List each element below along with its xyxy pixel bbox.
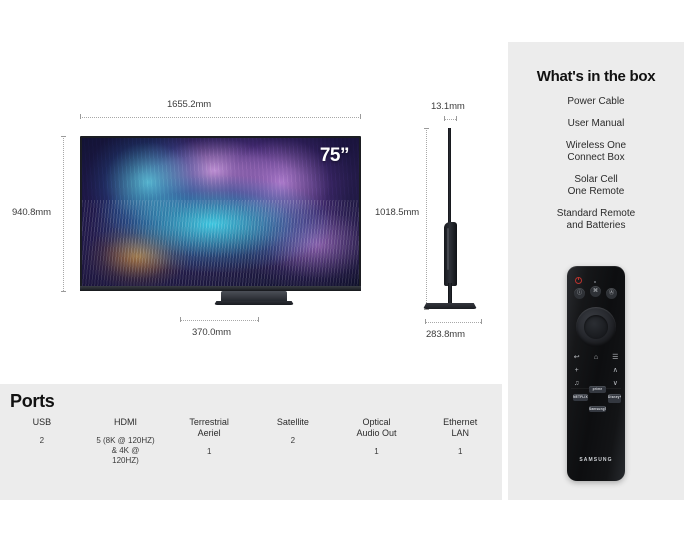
dimensions-panel: 1655.2mm 940.8mm 75” 370.0mm 13.1mm <box>0 0 508 378</box>
netflix-app-button: NETFLIX <box>573 394 588 401</box>
dimension-stand-depth-line <box>425 322 481 323</box>
home-icon: ⌂ <box>590 353 602 362</box>
dimension-cap <box>360 114 361 119</box>
ports-section-title: Ports <box>10 391 55 412</box>
port-name: HDMI <box>84 417 168 428</box>
channel-down-icon: ∨ <box>609 379 621 388</box>
dimension-side-depth-line <box>444 119 456 120</box>
port-name: Terrestrial Aeriel <box>167 417 251 439</box>
whats-in-the-box-list: Power Cable User Manual Wireless One Con… <box>508 96 684 242</box>
dimension-cap <box>61 136 66 137</box>
remote-nav-row: ↩ ⌂ ☰ <box>567 353 625 362</box>
dimension-stand-depth-label: 283.8mm <box>426 329 465 340</box>
box-item: User Manual <box>508 118 684 130</box>
box-item: Wireless One Connect Box <box>508 140 684 164</box>
dimension-cap <box>456 116 457 121</box>
whats-in-the-box-title: What's in the box <box>508 68 684 85</box>
tv-side-bulge-detail <box>447 228 449 270</box>
assistant-icon: ⓘ <box>574 288 585 299</box>
volume-up-icon: + <box>571 366 583 375</box>
dimension-front-height-line <box>63 136 64 291</box>
tv-side-bulge <box>444 222 457 286</box>
tv-screen-artwork: 75” <box>82 138 359 286</box>
ports-table: USB 2 HDMI 5 (8K @ 120HZ) & 4K @ 120HZ) … <box>0 417 502 466</box>
box-item: Solar Cell One Remote <box>508 174 684 198</box>
box-item: Standard Remote and Batteries <box>508 208 684 232</box>
dimension-front-width-label: 1655.2mm <box>167 99 211 110</box>
tv-side-stand-post <box>448 283 452 305</box>
dimension-stand-width-line <box>180 320 258 321</box>
source-icon: ⌘ <box>590 286 601 297</box>
remote-control-image: ⓘ ⌘ Ⓐ ↩ ⌂ ☰ + ∧ ♫ ∨ NETFLIX <box>567 266 625 481</box>
dimension-front-height-label: 940.8mm <box>12 207 51 218</box>
port-column-ethernet-lan: Ethernet LAN 1 <box>418 417 502 466</box>
prime-video-app-button: prime video <box>589 386 606 393</box>
dimension-cap <box>425 319 426 324</box>
source-button: ⌘ <box>590 286 601 297</box>
dimension-cap <box>258 317 259 322</box>
dimension-stand-width-label: 370.0mm <box>192 327 231 338</box>
dimension-cap <box>180 317 181 322</box>
tv-front-view-image: 75” <box>80 136 361 291</box>
tv-bottom-chin <box>80 286 361 291</box>
mute-icon: ♫ <box>571 379 583 388</box>
tv-stand-base <box>214 301 294 305</box>
dimension-side-depth-label: 13.1mm <box>431 101 465 112</box>
port-name: Satellite <box>251 417 335 428</box>
tv-side-stand-base <box>423 303 477 309</box>
screen-size-badge: 75” <box>320 145 349 167</box>
mic-button: Ⓐ <box>606 288 617 299</box>
box-item: Power Cable <box>508 96 684 108</box>
port-value: 1 <box>167 447 251 457</box>
port-value: 1 <box>418 447 502 457</box>
port-name: Ethernet LAN <box>418 417 502 439</box>
samsung-tv-plus-app-button: SamsungTV+ <box>589 406 606 412</box>
port-column-usb: USB 2 <box>0 417 84 466</box>
port-value: 5 (8K @ 120HZ) & 4K @ 120HZ) <box>84 436 168 466</box>
spacer-icon <box>590 366 602 375</box>
screen-vignette <box>82 138 359 286</box>
port-value: 2 <box>251 436 335 446</box>
ir-led-icon <box>594 281 596 283</box>
port-value: 2 <box>0 436 84 446</box>
port-column-satellite: Satellite 2 <box>251 417 335 466</box>
dimension-front-width-line <box>80 117 361 118</box>
port-column-terrestrial-aeriel: Terrestrial Aeriel 1 <box>167 417 251 466</box>
guide-icon: ☰ <box>609 353 621 362</box>
dimension-side-height-label: 1018.5mm <box>375 207 419 218</box>
select-button <box>584 315 608 339</box>
port-name: Optical Audio Out <box>335 417 419 439</box>
remote-rocker-row-top: + ∧ <box>567 366 625 375</box>
tv-stand-neck <box>221 291 287 302</box>
back-icon: ↩ <box>571 353 583 362</box>
directional-pad <box>576 307 616 347</box>
dimension-cap <box>444 116 445 121</box>
port-value: 1 <box>335 447 419 457</box>
port-column-hdmi: HDMI 5 (8K @ 120HZ) & 4K @ 120HZ) <box>84 417 168 466</box>
dimension-cap <box>80 114 81 119</box>
assistant-button: ⓘ <box>574 288 585 299</box>
disney-plus-app-button: Disney+ <box>608 394 621 403</box>
dimension-cap <box>481 319 482 324</box>
power-icon <box>575 277 582 284</box>
port-name: USB <box>0 417 84 428</box>
tv-side-view-image <box>415 128 485 313</box>
product-spec-page: 1655.2mm 940.8mm 75” 370.0mm 13.1mm <box>0 0 684 547</box>
mic-icon: Ⓐ <box>606 288 617 299</box>
channel-up-icon: ∧ <box>609 366 621 375</box>
samsung-logo: SAMSUNG <box>567 457 625 463</box>
port-column-optical-audio-out: Optical Audio Out 1 <box>335 417 419 466</box>
dimension-cap <box>61 291 66 292</box>
